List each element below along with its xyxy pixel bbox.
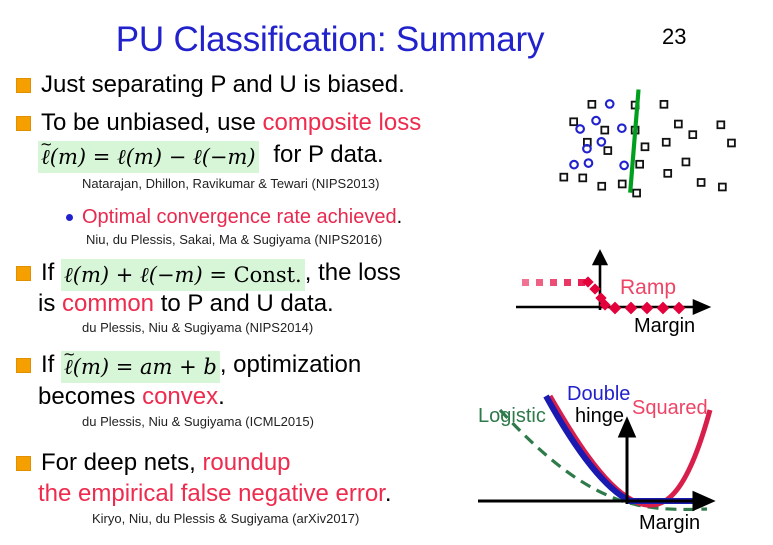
bullet-2-line1: To be unbiased, use composite loss [41, 108, 421, 138]
bullet-item-5: For deep nets, roundup [16, 448, 291, 478]
bullet-3-line2-a: is [38, 290, 62, 317]
bullet-item-4: If ℓ(m) = am + b, optimization [16, 350, 361, 383]
bullet-3-line2-red: common [62, 290, 154, 317]
bullet-5-line2-red: the empirical false negative error [38, 480, 385, 507]
slide-canvas: PU Classification: Summary 23 Just separ… [0, 0, 773, 545]
bullet-4-line2-a: becomes [38, 383, 142, 410]
square-bullet-icon [16, 456, 31, 471]
double-label: Double [567, 383, 630, 405]
bullet-5-line1-red: roundup [202, 449, 290, 476]
bullet-5-line2: the empirical false negative error. [38, 479, 392, 509]
bullet-item-3: If ℓ(m) + ℓ(−m) = Const., the loss [16, 258, 401, 291]
bullet-2-tail: for P data. [273, 141, 383, 168]
formula-linear-loss: ℓ(m) = am + b [61, 351, 220, 383]
squared-label: Squared [632, 397, 708, 419]
square-bullet-icon [16, 116, 31, 131]
round-bullet-icon [66, 214, 73, 221]
bullet-4-line2: becomes convex. [38, 382, 225, 412]
bullet-4-line2-red: convex [142, 383, 218, 410]
formula-composite-loss: ℓ(m) = ℓ(m) − ℓ(−m) [38, 141, 259, 173]
bullet-2-text-highlight: composite loss [263, 109, 422, 136]
citation-natarajan: Natarajan, Dhillon, Ravikumar & Tewari (… [82, 176, 379, 191]
logistic-label: Logistic [478, 405, 546, 427]
bullet-3-tail: , the loss [305, 259, 401, 286]
bullet-item-1: Just separating P and U is biased. [16, 70, 405, 100]
bullet-item-2-sub: Optimal convergence rate achieved. [66, 205, 402, 229]
ramp-x-axis-label: Margin [634, 315, 695, 337]
bullet-4-line1: If ℓ(m) = am + b, optimization [41, 350, 361, 383]
bullet-2-text-plain: To be unbiased, use [41, 109, 263, 136]
bullet-5-line1-a: For deep nets, [41, 449, 202, 476]
loss-curves-plot: Logistic Double hinge Squared Margin [472, 374, 772, 542]
square-bullet-icon [16, 266, 31, 281]
hinge-label: hinge [575, 405, 624, 427]
page-number: 23 [662, 24, 686, 50]
bullet-4-line2-b: . [218, 383, 225, 410]
bullet-3-line2: is common to P and U data. [38, 289, 334, 319]
positive-circle-markers [570, 100, 628, 169]
bullet-3-prefix: If [41, 259, 54, 286]
ramp-series-label: Ramp [620, 276, 676, 299]
bullet-4-prefix: If [41, 351, 54, 378]
bullet-5-line2-tail: . [385, 480, 392, 507]
citation-kiryo-arxiv2017: Kiryo, Niu, du Plessis & Sugiyama (arXiv… [92, 511, 359, 526]
loss-x-axis-label: Margin [639, 512, 700, 534]
citation-duplessis-icml2015: du Plessis, Niu & Sugiyama (ICML2015) [82, 414, 314, 429]
bullet-4-tail: , optimization [220, 351, 361, 378]
citation-niu-nips2016: Niu, du Plessis, Sakai, Ma & Sugiyama (N… [86, 232, 382, 247]
bullet-1-text: Just separating P and U is biased. [41, 70, 405, 100]
ramp-loss-plot: Ramp Margin [516, 252, 766, 338]
square-bullet-icon [16, 78, 31, 93]
bullet-2-sub-red: Optimal convergence rate achieved [82, 206, 397, 228]
citation-duplessis-nips2014: du Plessis, Niu & Sugiyama (NIPS2014) [82, 320, 313, 335]
bullet-item-2: To be unbiased, use composite loss [16, 108, 421, 138]
unlabeled-square-markers [560, 101, 734, 197]
pu-scatter-plot [524, 88, 769, 198]
formula-const-loss: ℓ(m) + ℓ(−m) = Const. [61, 259, 305, 291]
page-title: PU Classification: Summary [0, 20, 660, 60]
square-bullet-icon [16, 358, 31, 373]
bullet-2-sub-tail: . [397, 206, 403, 228]
bullet-5-line1: For deep nets, roundup [41, 448, 291, 478]
bullet-3-line1: If ℓ(m) + ℓ(−m) = Const., the loss [41, 258, 401, 291]
bullet-3-line2-b: to P and U data. [154, 290, 334, 317]
bullet-2-sub-text: Optimal convergence rate achieved. [82, 205, 402, 229]
bullet-2-line2: ℓ(m) = ℓ(m) − ℓ(−m) for P data. [38, 140, 384, 173]
